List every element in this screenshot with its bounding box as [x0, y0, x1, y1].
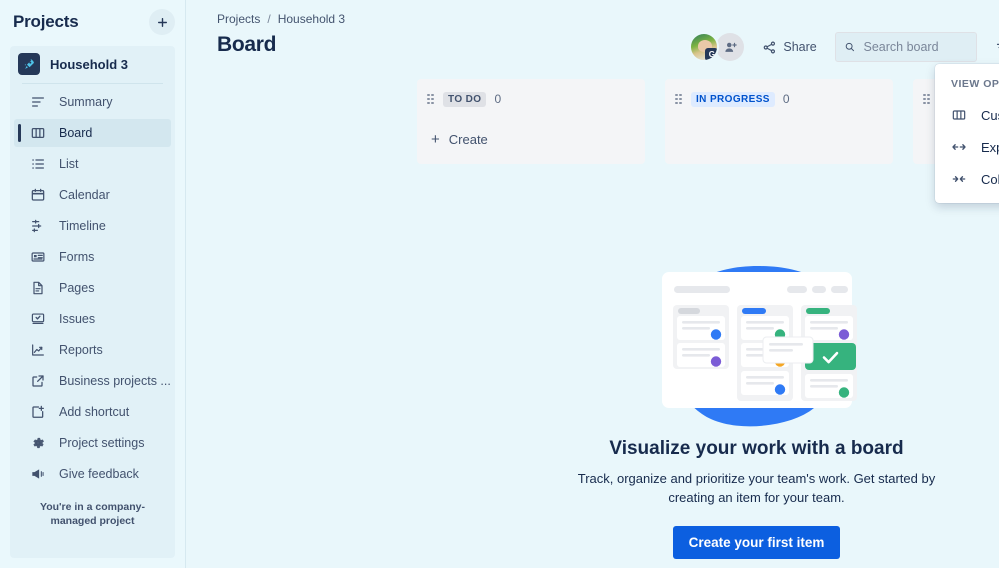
empty-state-title: Visualize your work with a board: [609, 438, 903, 460]
sidebar-item-label: Board: [59, 126, 92, 140]
sidebar-project-name: Household 3: [50, 57, 128, 72]
main-content: Projects / Household 3 Board G Share: [186, 0, 999, 568]
sidebar-item-label: Calendar: [59, 188, 110, 202]
expand-icon: [951, 139, 967, 155]
filter-button[interactable]: Filter: [987, 35, 999, 60]
sidebar-item-project-settings[interactable]: Project settings: [14, 429, 171, 457]
sidebar-item-add-shortcut[interactable]: Add shortcut: [14, 398, 171, 426]
create-first-item-button[interactable]: Create your first item: [673, 526, 841, 559]
timeline-icon: [30, 218, 46, 234]
cards-icon: [951, 107, 967, 123]
sidebar-item-summary[interactable]: Summary: [14, 88, 171, 116]
summary-icon: [30, 94, 46, 110]
search-icon: [844, 40, 856, 54]
sidebar-item-label: List: [59, 157, 78, 171]
empty-state: Visualize your work with a board Track, …: [372, 258, 999, 559]
sidebar-item-calendar[interactable]: Calendar: [14, 181, 171, 209]
sidebar-title: Projects: [13, 12, 79, 32]
sidebar-item-label: Timeline: [59, 219, 106, 233]
sidebar-item-label: Project settings: [59, 436, 144, 450]
list-icon: [30, 156, 46, 172]
avatar-badge: G: [705, 48, 718, 61]
column-status-badge: TO DO: [443, 92, 486, 107]
sidebar-project-row[interactable]: Household 3: [10, 46, 175, 82]
sidebar-item-label: Forms: [59, 250, 94, 264]
sidebar-item-label: Give feedback: [59, 467, 139, 481]
create-item-button[interactable]: + Create: [427, 127, 635, 152]
drag-handle-icon[interactable]: [427, 94, 435, 105]
menu-item-expand-all-columns[interactable]: Expand all columns: [935, 131, 999, 163]
top-bar: Projects / Household 3 Board G Share: [186, 0, 999, 57]
gear-icon: [30, 435, 46, 451]
sidebar-item-list[interactable]: List: [14, 150, 171, 178]
sidebar-item-pages[interactable]: Pages: [14, 274, 171, 302]
sidebar: Projects Household 3: [0, 0, 186, 568]
sidebar-item-reports[interactable]: Reports: [14, 336, 171, 364]
external-link-icon: [30, 373, 46, 389]
sidebar-item-timeline[interactable]: Timeline: [14, 212, 171, 240]
plus-icon: +: [431, 132, 440, 147]
add-project-button[interactable]: [149, 9, 175, 35]
column-status-badge: IN PROGRESS: [691, 92, 775, 107]
empty-state-subtitle: Track, organize and prioritize your team…: [561, 470, 953, 508]
sidebar-footnote: You're in a company-managed project: [10, 500, 175, 528]
forms-icon: [30, 249, 46, 265]
share-icon: [762, 40, 777, 55]
sidebar-item-label: Add shortcut: [59, 405, 129, 419]
issues-icon: [30, 311, 46, 327]
rocket-icon: [18, 53, 40, 75]
share-label: Share: [783, 40, 816, 54]
menu-item-label: Collapse all columns: [981, 172, 999, 187]
column-header: TO DO 0: [427, 89, 635, 109]
pages-icon: [30, 280, 46, 296]
sidebar-divider: [22, 83, 163, 84]
column-header: IN PROGRESS 0: [675, 89, 883, 109]
sidebar-item-label: Summary: [59, 95, 112, 109]
board-icon: [30, 125, 46, 141]
plus-icon: [156, 16, 169, 29]
sidebar-header: Projects: [0, 0, 185, 44]
sidebar-item-give-feedback[interactable]: Give feedback: [14, 460, 171, 488]
search-input[interactable]: [864, 40, 968, 54]
sidebar-item-business-projects[interactable]: Business projects ...: [14, 367, 171, 395]
menu-item-label: Customize cards: [981, 108, 999, 123]
breadcrumb-current[interactable]: Household 3: [278, 12, 345, 26]
sidebar-item-forms[interactable]: Forms: [14, 243, 171, 271]
column-count: 0: [783, 92, 790, 106]
sidebar-panel: Household 3 Summary Board List Calendar: [10, 46, 175, 558]
board-columns: TO DO 0 + Create IN PROGRESS 0 DON: [186, 57, 999, 164]
top-bar-actions: G Share Filter: [689, 32, 999, 62]
avatar[interactable]: G: [689, 32, 719, 62]
add-person-icon: [723, 40, 738, 55]
app-root: Projects Household 3: [0, 0, 999, 568]
board-column-in-progress: IN PROGRESS 0: [665, 79, 893, 164]
search-board[interactable]: [835, 32, 977, 62]
filter-icon: [995, 40, 999, 55]
menu-item-customize-cards[interactable]: Customize cards: [935, 99, 999, 131]
menu-item-label: Expand all columns: [981, 140, 999, 155]
board-illustration: [632, 258, 882, 430]
megaphone-icon: [30, 466, 46, 482]
sidebar-item-label: Reports: [59, 343, 103, 357]
add-shortcut-icon: [30, 404, 46, 420]
dropdown-heading: VIEW OPTIONS: [935, 74, 999, 99]
sidebar-item-board[interactable]: Board: [14, 119, 171, 147]
breadcrumb: Projects / Household 3: [217, 12, 999, 26]
drag-handle-icon[interactable]: [923, 94, 931, 105]
breadcrumb-projects[interactable]: Projects: [217, 12, 260, 26]
board-column-todo: TO DO 0 + Create: [417, 79, 645, 164]
view-options-dropdown: VIEW OPTIONS Customize cards Expand all …: [935, 64, 999, 203]
calendar-icon: [30, 187, 46, 203]
drag-handle-icon[interactable]: [675, 94, 683, 105]
collapse-icon: [951, 171, 967, 187]
breadcrumb-separator: /: [267, 12, 270, 26]
share-button[interactable]: Share: [754, 35, 824, 60]
sidebar-item-label: Business projects ...: [59, 374, 171, 388]
reports-icon: [30, 342, 46, 358]
add-people-button[interactable]: [716, 33, 744, 61]
sidebar-item-issues[interactable]: Issues: [14, 305, 171, 333]
avatar-group: G: [689, 32, 744, 62]
sidebar-item-label: Pages: [59, 281, 94, 295]
menu-item-collapse-all-columns[interactable]: Collapse all columns: [935, 163, 999, 195]
create-label: Create: [449, 132, 488, 147]
column-count: 0: [494, 92, 501, 106]
sidebar-item-label: Issues: [59, 312, 95, 326]
